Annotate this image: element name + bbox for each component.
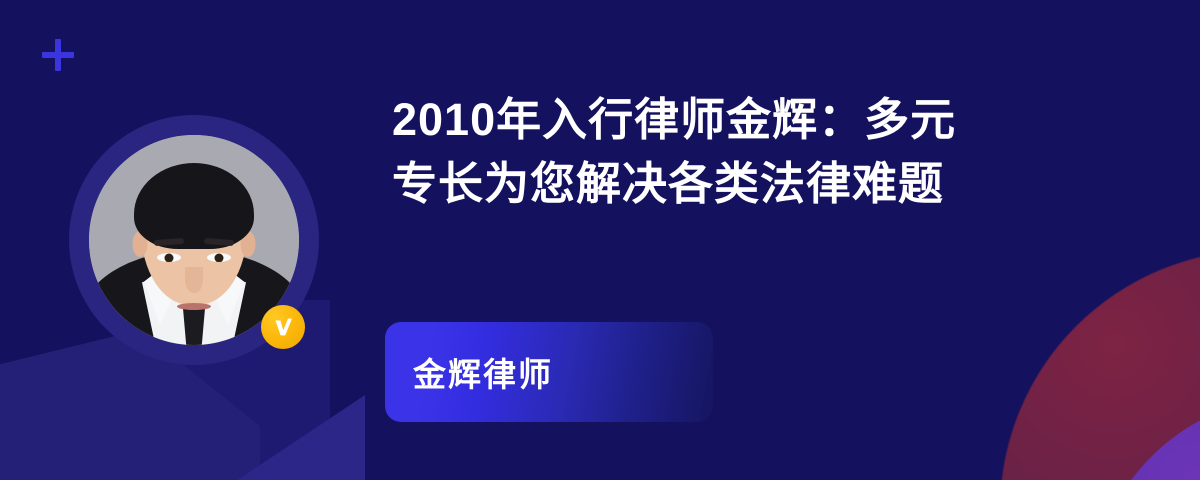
verified-badge-icon	[261, 305, 305, 349]
headline-block: 2010年入行律师金辉：多元 专长为您解决各类法律难题	[392, 88, 1072, 216]
portrait-eye-left	[157, 253, 181, 262]
lawyer-name-button[interactable]: 金辉律师	[385, 322, 713, 422]
portrait-mouth	[177, 303, 211, 310]
portrait-eye-right	[207, 253, 231, 262]
plus-icon	[42, 39, 74, 71]
lawyer-promo-banner: 2010年入行律师金辉：多元 专长为您解决各类法律难题 金辉律师	[0, 0, 1200, 480]
avatar	[69, 115, 319, 365]
portrait-nose	[185, 267, 203, 293]
page-title: 2010年入行律师金辉：多元 专长为您解决各类法律难题	[392, 88, 1072, 216]
